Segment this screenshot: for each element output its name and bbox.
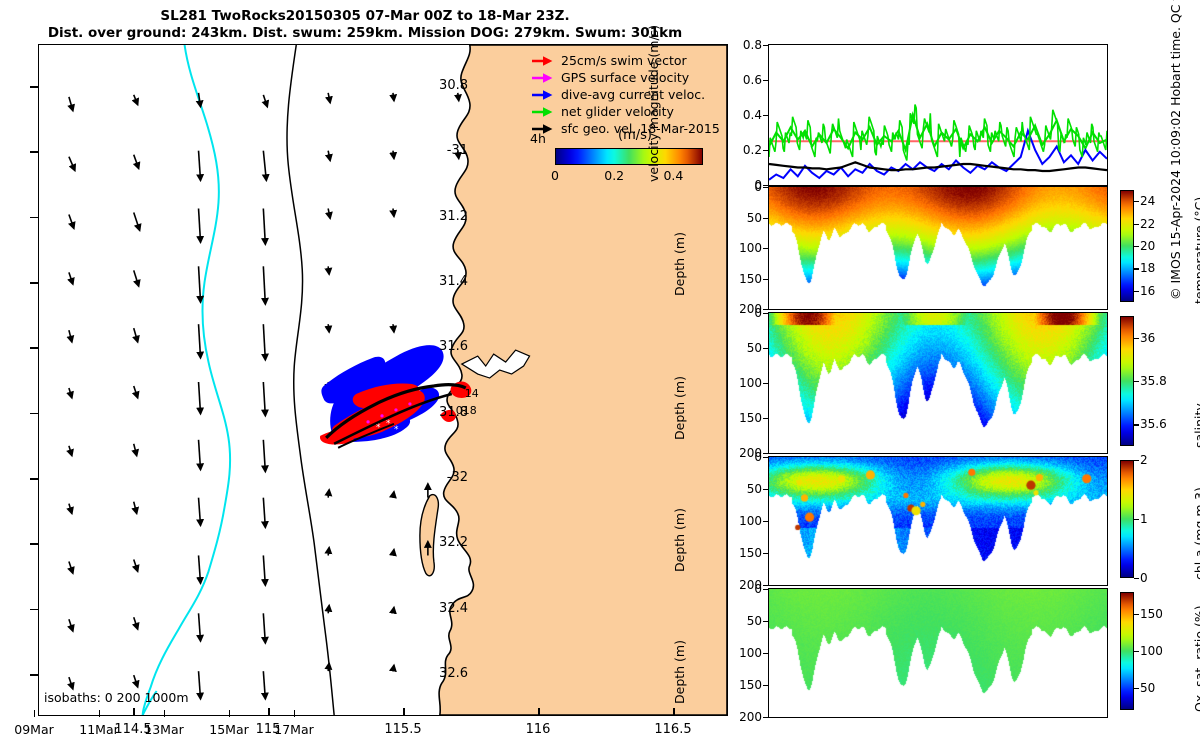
map-x-tick-mark bbox=[538, 708, 540, 716]
legend-item-label: dive-avg current veloc. bbox=[561, 87, 705, 102]
time-tick-label: 15Mar bbox=[209, 722, 249, 737]
figure-root: SL281 TwoRocks20150305 07-Mar 00Z to 18-… bbox=[0, 0, 1200, 750]
salinity-section-colorbar-tick-label: 35.6 bbox=[1140, 417, 1167, 431]
salinity-section-colorbar-tick-mark bbox=[1134, 381, 1139, 382]
temperature-section-depth-tick-label: 100 bbox=[716, 241, 762, 255]
salinity-section-depth-tick-label: 0 bbox=[716, 306, 762, 320]
map-colorbar-ticks: 00.20.4 bbox=[555, 166, 703, 184]
temperature-section-depth-tick-label: 50 bbox=[716, 211, 762, 225]
temperature-section-colorbar-tick-mark bbox=[1134, 291, 1139, 292]
temperature-section-depth-tick-mark bbox=[763, 248, 769, 249]
map-colorbar-tick-label: 0 bbox=[551, 168, 559, 183]
svg-text:*: * bbox=[376, 423, 381, 433]
oxygen-saturation-section-depth-tick-label: 200 bbox=[716, 710, 762, 724]
chlorophyll-a-section-depth-tick-label: 0 bbox=[716, 450, 762, 464]
map-y-tick-label: 32.2 bbox=[398, 535, 468, 550]
credit-text: © IMOS 15-Apr-2024 10:09:02 Hobart time.… bbox=[1168, 0, 1183, 300]
map-y-tick-mark bbox=[30, 347, 38, 349]
arrow-right-icon bbox=[530, 106, 556, 118]
svg-text:*: * bbox=[394, 425, 399, 435]
vector-interval-label: 4h bbox=[530, 131, 546, 146]
map-x-tick-mark bbox=[403, 708, 405, 716]
temperature-section-colorbar-tick-mark bbox=[1134, 224, 1139, 225]
time-tick-mark bbox=[34, 710, 35, 717]
glider-track-overlay: ** * 14 018 bbox=[39, 45, 727, 715]
chlorophyll-a-section-depth-tick-mark bbox=[763, 489, 769, 490]
map-y-tick-label: 31.4 bbox=[398, 274, 468, 289]
map-x-tick-mark bbox=[673, 708, 675, 716]
salinity-section-colorbar-tick-label: 35.8 bbox=[1140, 374, 1167, 388]
oxygen-saturation-section-colorbar-tick-mark bbox=[1134, 688, 1139, 689]
chlorophyll-a-section-colorbar-tick-mark bbox=[1134, 519, 1139, 520]
map-y-tick-label: 31.2 bbox=[398, 209, 468, 224]
velocity-y-tick-label: 0.6 bbox=[716, 73, 762, 87]
map-y-tick-mark bbox=[30, 543, 38, 545]
map-y-tick-mark bbox=[30, 674, 38, 676]
oxygen-saturation-section-y-axis-label: Depth (m) bbox=[672, 640, 687, 704]
timeseries-column: velocity magnitude (m/s)00.20.40.60.8Dep… bbox=[768, 0, 1200, 750]
temperature-section-depth-tick-mark bbox=[763, 279, 769, 280]
salinity-section-colorbar-tick-label: 36 bbox=[1140, 331, 1155, 345]
salinity-section-panel[interactable] bbox=[768, 312, 1108, 454]
oxygen-saturation-section-colorbar-tick-mark bbox=[1134, 614, 1139, 615]
oxygen-saturation-section-depth-tick-label: 0 bbox=[716, 582, 762, 596]
temperature-section-depth-tick-label: 0 bbox=[716, 180, 762, 194]
time-axis: 09Mar11Mar13Mar15Mar17Mar bbox=[0, 718, 432, 742]
legend-item-label: GPS surface velocity bbox=[561, 70, 689, 85]
temperature-section-colorbar-tick-label: 24 bbox=[1140, 194, 1155, 208]
map-y-tick-label: 32.6 bbox=[398, 666, 468, 681]
legend-item-dive-avg-current-veloc: dive-avg current veloc. bbox=[530, 86, 710, 103]
oxygen-saturation-section-colorbar-label: Ox. sat. ratio (%) bbox=[1192, 605, 1200, 712]
salinity-section-heatmap bbox=[769, 313, 1107, 453]
chlorophyll-a-section-y-axis-label: Depth (m) bbox=[672, 508, 687, 572]
temperature-section-colorbar-tick-mark bbox=[1134, 246, 1139, 247]
map-y-tick-mark bbox=[30, 151, 38, 153]
map-y-tick-label: 32.4 bbox=[398, 601, 468, 616]
oxygen-saturation-section-colorbar-tick-label: 150 bbox=[1140, 607, 1163, 621]
salinity-section-depth-tick-mark bbox=[763, 313, 769, 314]
map-y-tick-label: 31.6 bbox=[398, 339, 468, 354]
isobath-legend-label: isobaths: 0 200 1000m bbox=[44, 690, 189, 705]
legend-item-gps-surface-velocity: GPS surface velocity bbox=[530, 69, 710, 86]
oxygen-saturation-section-depth-tick-label: 50 bbox=[716, 614, 762, 628]
waypoint-label-14: 14 bbox=[465, 387, 479, 400]
map-x-tick-mark bbox=[133, 708, 135, 716]
map-y-tick-label: 31.8 bbox=[398, 405, 468, 420]
chlorophyll-a-section-depth-tick-mark bbox=[763, 521, 769, 522]
temperature-section-colorbar-tick-label: 22 bbox=[1140, 217, 1155, 231]
velocity-y-tick-mark bbox=[763, 150, 769, 151]
map-y-tick-mark bbox=[30, 217, 38, 219]
time-tick-mark bbox=[164, 710, 165, 717]
map-x-tick-label: 116.5 bbox=[638, 722, 708, 737]
salinity-section-y-axis-label: Depth (m) bbox=[672, 376, 687, 440]
chlorophyll-a-section-depth-tick-label: 50 bbox=[716, 482, 762, 496]
map-colorbar-tick-label: 0.2 bbox=[604, 168, 624, 183]
temperature-section-colorbar-tick-label: 18 bbox=[1140, 261, 1155, 275]
temperature-section-depth-tick-mark bbox=[763, 218, 769, 219]
time-tick-label: 09Mar bbox=[14, 722, 54, 737]
temperature-section-colorbar-tick-label: 20 bbox=[1140, 239, 1155, 253]
oxygen-saturation-section-colorbar-tick-mark bbox=[1134, 651, 1139, 652]
chlorophyll-a-section-depth-tick-label: 150 bbox=[716, 546, 762, 560]
temperature-section-depth-tick-mark bbox=[763, 187, 769, 188]
map-y-tick-mark bbox=[30, 413, 38, 415]
temperature-section-depth-tick-mark bbox=[763, 309, 769, 310]
velocity-y-tick-mark bbox=[763, 45, 769, 46]
temperature-section-colorbar bbox=[1120, 190, 1134, 302]
map-panel[interactable]: ** * 14 018 bbox=[38, 44, 728, 716]
salinity-section-colorbar bbox=[1120, 316, 1134, 446]
map-y-tick-mark bbox=[30, 86, 38, 88]
arrow-right-icon bbox=[530, 89, 556, 101]
chlorophyll-a-section-depth-tick-label: 100 bbox=[716, 514, 762, 528]
map-y-tick-mark bbox=[30, 478, 38, 480]
oxygen-saturation-section-depth-tick-mark bbox=[763, 717, 769, 718]
time-tick-mark bbox=[99, 710, 100, 717]
temperature-section-colorbar-tick-mark bbox=[1134, 201, 1139, 202]
salinity-section-depth-tick-mark bbox=[763, 418, 769, 419]
map-y-tick-label: -31 bbox=[398, 143, 468, 158]
time-tick-label: 13Mar bbox=[144, 722, 184, 737]
oxygen-saturation-section-colorbar-tick-label: 50 bbox=[1140, 681, 1155, 695]
time-tick-label: 11Mar bbox=[79, 722, 119, 737]
map-colorbar-tick-label: 0.4 bbox=[663, 168, 683, 183]
map-legend: 25cm/s swim vectorGPS surface velocitydi… bbox=[530, 52, 710, 137]
map-y-tick-mark bbox=[30, 609, 38, 611]
chlorophyll-a-section-panel[interactable] bbox=[768, 456, 1108, 586]
velocity-y-axis-label: velocity magnitude (m/s) bbox=[646, 25, 661, 182]
salinity-section-depth-tick-mark bbox=[763, 348, 769, 349]
velocity-y-tick-label: 0.4 bbox=[716, 108, 762, 122]
velocity-y-tick-mark bbox=[763, 115, 769, 116]
temperature-section-panel[interactable] bbox=[768, 186, 1108, 310]
chlorophyll-a-section-depth-tick-mark bbox=[763, 585, 769, 586]
temperature-section-depth-tick-label: 150 bbox=[716, 272, 762, 286]
oxygen-saturation-section-depth-tick-mark bbox=[763, 653, 769, 654]
chlorophyll-a-section-depth-tick-mark bbox=[763, 457, 769, 458]
map-y-tick-label: -32 bbox=[398, 470, 468, 485]
map-x-tick-label: 116 bbox=[503, 722, 573, 737]
salinity-section-depth-tick-label: 150 bbox=[716, 411, 762, 425]
svg-text:*: * bbox=[386, 419, 391, 429]
chlorophyll-a-section-colorbar-tick-mark bbox=[1134, 460, 1139, 461]
oxygen-saturation-section-panel[interactable] bbox=[768, 588, 1108, 718]
map-y-tick-label: 30.8 bbox=[398, 78, 468, 93]
salinity-section-colorbar-label: salinity bbox=[1192, 403, 1200, 448]
legend-item-net-glider-velocity: net glider velocity bbox=[530, 103, 710, 120]
map-title-line1: SL281 TwoRocks20150305 07-Mar 00Z to 18-… bbox=[30, 8, 700, 25]
time-tick-label: 17Mar bbox=[274, 722, 314, 737]
oxygen-saturation-section-heatmap bbox=[769, 589, 1107, 717]
temperature-section-heatmap bbox=[769, 187, 1107, 309]
map-colorbar-units: (m/s) bbox=[565, 128, 705, 143]
legend-item-25cm-s-swim-vector: 25cm/s swim vector bbox=[530, 52, 710, 69]
chlorophyll-a-section-colorbar-tick-label: 0 bbox=[1140, 571, 1148, 585]
time-tick-mark bbox=[294, 710, 295, 717]
oxygen-saturation-section-depth-tick-label: 150 bbox=[716, 678, 762, 692]
time-tick-mark bbox=[229, 710, 230, 717]
chlorophyll-a-section-colorbar-tick-mark bbox=[1134, 578, 1139, 579]
salinity-section-colorbar-tick-mark bbox=[1134, 424, 1139, 425]
temperature-section-colorbar-label: temperature (°C) bbox=[1192, 197, 1200, 304]
temperature-section-colorbar-tick-label: 16 bbox=[1140, 284, 1155, 298]
map-title-line2: Dist. over ground: 243km. Dist. swum: 25… bbox=[30, 25, 700, 42]
oxygen-saturation-section-depth-tick-label: 100 bbox=[716, 646, 762, 660]
chlorophyll-a-section-heatmap bbox=[769, 457, 1107, 585]
velocity-magnitude-panel[interactable] bbox=[768, 44, 1108, 186]
velocity-y-tick-label: 0.2 bbox=[716, 143, 762, 157]
salinity-section-depth-tick-label: 50 bbox=[716, 341, 762, 355]
oxygen-saturation-section-colorbar-tick-label: 100 bbox=[1140, 644, 1163, 658]
chlorophyll-a-section-colorbar-tick-label: 1 bbox=[1140, 512, 1148, 526]
salinity-section-depth-tick-label: 100 bbox=[716, 376, 762, 390]
chlorophyll-a-section-depth-tick-mark bbox=[763, 553, 769, 554]
arrow-right-icon bbox=[530, 72, 556, 84]
map-y-tick-mark bbox=[30, 282, 38, 284]
temperature-section-y-axis-label: Depth (m) bbox=[672, 232, 687, 296]
salinity-section-depth-tick-mark bbox=[763, 453, 769, 454]
salinity-section-depth-tick-mark bbox=[763, 383, 769, 384]
temperature-section-colorbar-tick-mark bbox=[1134, 268, 1139, 269]
legend-item-label: 25cm/s swim vector bbox=[561, 53, 687, 68]
velocity-y-tick-mark bbox=[763, 80, 769, 81]
chlorophyll-a-section-colorbar bbox=[1120, 460, 1134, 578]
oxygen-saturation-section-depth-tick-mark bbox=[763, 589, 769, 590]
velocity-y-tick-label: 0.8 bbox=[716, 38, 762, 52]
map-colorbar bbox=[555, 148, 703, 165]
chlorophyll-a-section-colorbar-tick-label: 2 bbox=[1140, 453, 1148, 467]
arrow-right-icon bbox=[530, 55, 556, 67]
chlorophyll-a-section-colorbar-label: chl-a (mg m-3) bbox=[1192, 487, 1200, 580]
oxygen-saturation-section-colorbar bbox=[1120, 592, 1134, 710]
oxygen-saturation-section-depth-tick-mark bbox=[763, 685, 769, 686]
oxygen-saturation-section-depth-tick-mark bbox=[763, 621, 769, 622]
salinity-section-colorbar-tick-mark bbox=[1134, 338, 1139, 339]
map-x-tick-mark bbox=[268, 708, 270, 716]
page-title: SL281 TwoRocks20150305 07-Mar 00Z to 18-… bbox=[30, 8, 700, 42]
